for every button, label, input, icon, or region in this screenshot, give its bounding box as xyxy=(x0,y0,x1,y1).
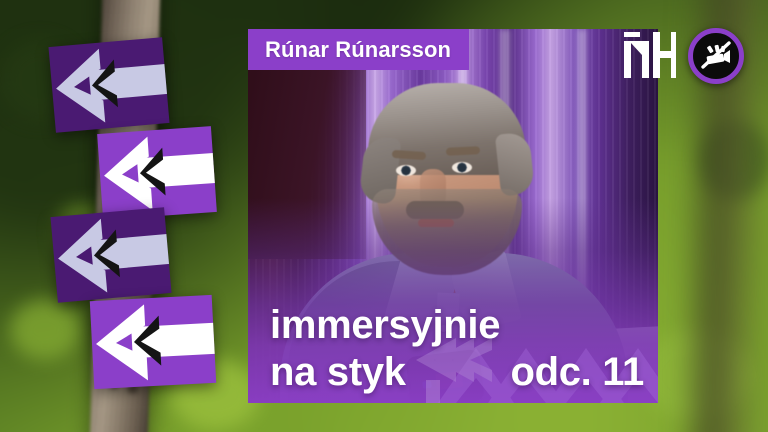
sign-3-arrow-head xyxy=(50,207,171,303)
headline-line-2: na styk xyxy=(270,350,406,395)
nh-logo xyxy=(622,31,676,79)
episode-label: odc. 11 xyxy=(510,350,644,395)
headline-row-2: na styk odc. 11 xyxy=(270,350,644,395)
guest-name-text: Rúnar Rúnarsson xyxy=(265,37,451,63)
video-still-panel: Rúnar Rúnarsson immersyjnie na styk odc.… xyxy=(248,29,658,403)
no-filming-badge xyxy=(688,28,744,84)
thumbnail-canvas: Rúnar Rúnarsson immersyjnie na styk odc.… xyxy=(0,0,768,432)
no-filming-icon xyxy=(699,39,733,73)
hair-temple-right xyxy=(495,131,535,196)
guest-name-banner: Rúnar Rúnarsson xyxy=(248,29,469,70)
eye-right xyxy=(452,162,472,173)
headline-line-1: immersyjnie xyxy=(270,305,500,345)
bokeh-1 xyxy=(10,300,80,360)
sign-1-arrow-head xyxy=(48,37,169,133)
sign-2-arrow-head xyxy=(97,126,217,220)
sign-4-arrow-head xyxy=(90,295,216,389)
direction-sign-4 xyxy=(90,295,216,389)
direction-sign-3 xyxy=(50,207,171,303)
direction-sign-2 xyxy=(97,126,217,220)
eye-left xyxy=(396,165,416,176)
direction-sign-1 xyxy=(48,37,169,133)
